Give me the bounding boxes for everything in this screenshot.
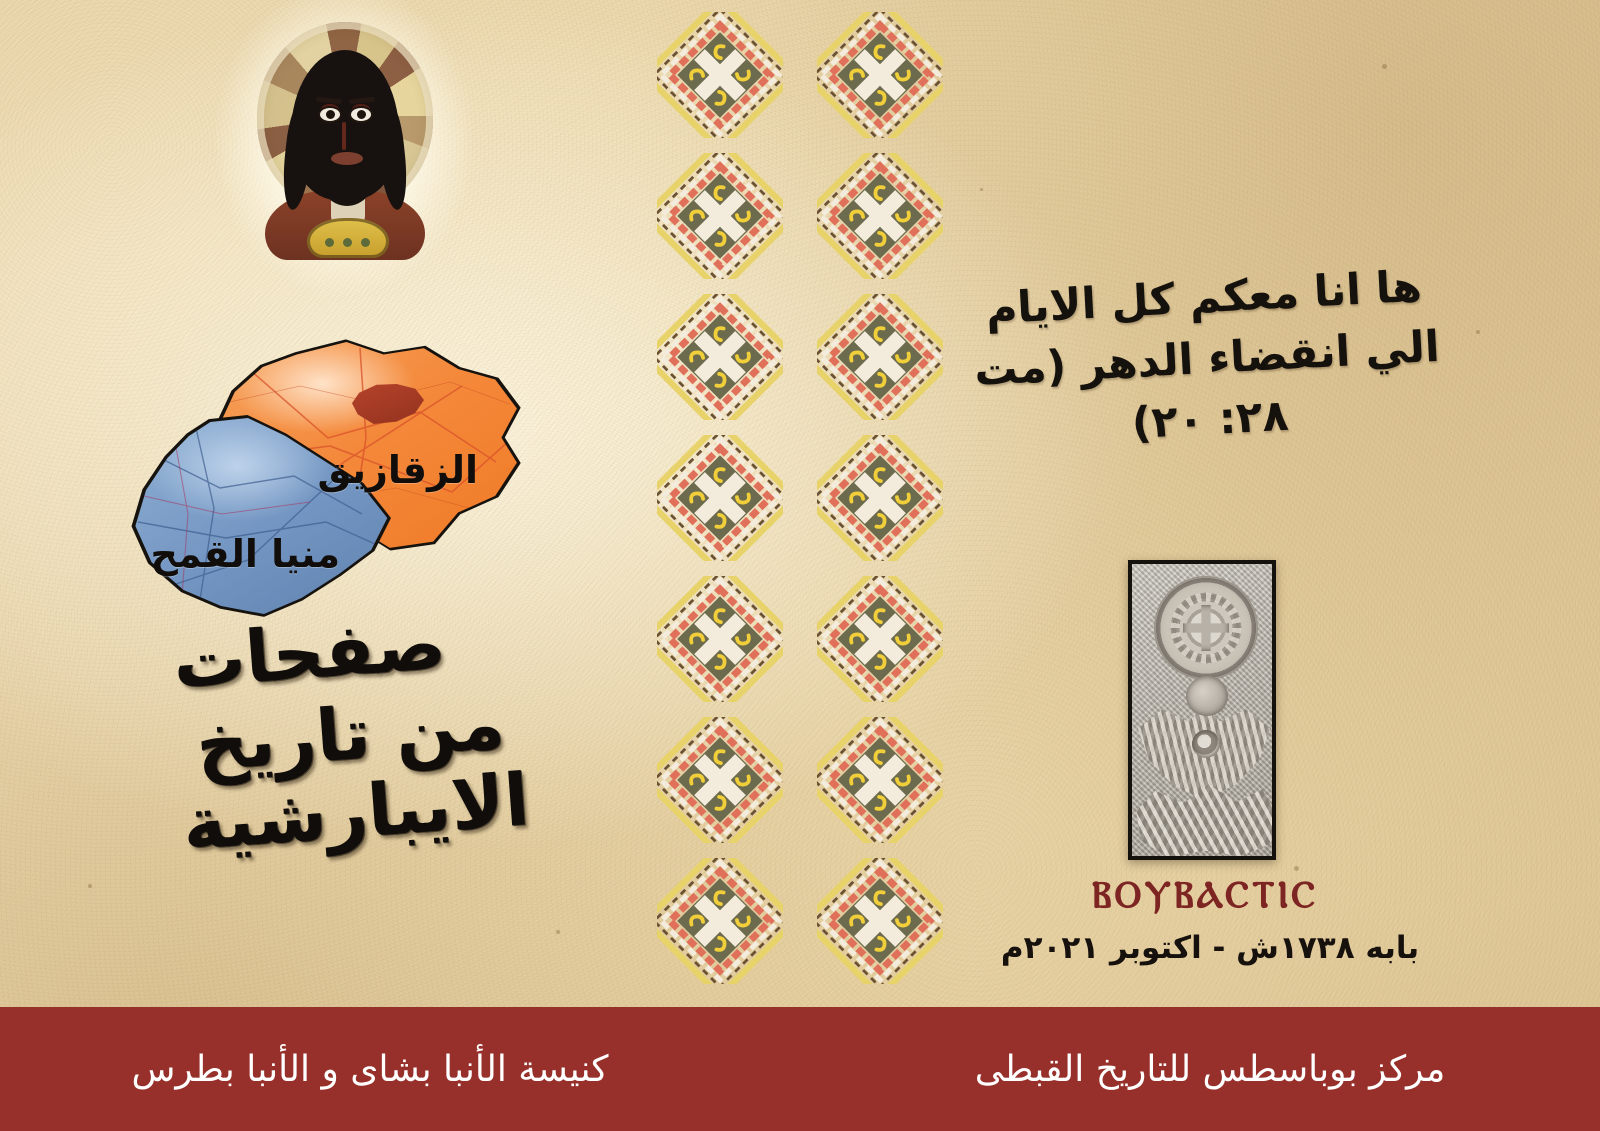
- collar-dot: [343, 238, 352, 247]
- coptic-textile-cross-motif: [657, 435, 783, 561]
- eagle-head: [1186, 676, 1228, 716]
- coptic-textile-cross-motif: [817, 858, 943, 984]
- coptic-textile-cross-motif: [657, 294, 783, 420]
- bottom-banner: مركز بوباسطس للتاريخ القبطى كنيسة الأنبا…: [0, 1007, 1600, 1131]
- collar-dot: [325, 238, 334, 247]
- coptic-textile-cross-motif: [657, 12, 783, 138]
- bible-verse: ها انا معكم كل الايام الي انقضاء الدهر (…: [968, 256, 1447, 463]
- coptic-textile-cross-motif: [657, 576, 783, 702]
- map-label-minya-alqamh: منيا القمح: [150, 532, 340, 576]
- cross-ornament: [817, 294, 943, 420]
- paper-speck: [556, 930, 560, 934]
- coptic-textile-cross-motif: [657, 717, 783, 843]
- title-line-2: من تاريخ الايبارشية: [68, 675, 638, 871]
- cross-ornament: [657, 435, 783, 561]
- coptic-wordmark: ⲂⲞⲨⲂⲀⲤⲦⲒⲤ: [1040, 872, 1370, 917]
- coptic-textile-cross-motif: [817, 435, 943, 561]
- issue-date: بابه ١٧٣٨ش - اكتوبر ٢٠٢١م: [1000, 930, 1420, 966]
- coptic-textile-cross-motif: [817, 576, 943, 702]
- paper-speck: [1476, 330, 1480, 334]
- cross-ornament: [817, 12, 943, 138]
- cross-ornament: [817, 576, 943, 702]
- coptic-textile-cross-motif: [817, 294, 943, 420]
- poster-canvas: الزقازيق منيا القمح صفحات من تاريخ الايب…: [0, 0, 1600, 1131]
- coptic-textile-cross-motif: [817, 153, 943, 279]
- eye-right: [351, 108, 371, 121]
- paper-speck: [1294, 866, 1299, 871]
- map-label-zagazig: الزقازيق: [318, 448, 478, 492]
- cross-ornament: [657, 12, 783, 138]
- cross-ornament-grid: [640, 4, 960, 994]
- paper-speck: [88, 884, 92, 888]
- paper-speck: [1382, 64, 1387, 69]
- page-title: صفحات من تاريخ الايبارشية: [62, 592, 638, 872]
- christ-icon: [233, 14, 455, 276]
- cross-ornament: [657, 294, 783, 420]
- coptic-textile-cross-motif: [817, 12, 943, 138]
- christ-icon-artwork: [251, 22, 439, 258]
- eye-left: [320, 108, 340, 121]
- stone-relief-image: [1128, 560, 1276, 860]
- districts-map: الزقازيق منيا القمح: [130, 332, 530, 628]
- cross-ornament: [657, 153, 783, 279]
- cross-ornament: [657, 858, 783, 984]
- cross-ornament: [817, 717, 943, 843]
- mouth: [331, 152, 363, 165]
- cross-ornament: [817, 153, 943, 279]
- central-boss: [1192, 730, 1220, 758]
- cross-ornament: [657, 717, 783, 843]
- cross-ornament: [657, 576, 783, 702]
- coptic-textile-cross-motif: [657, 153, 783, 279]
- coptic-textile-cross-motif: [657, 858, 783, 984]
- collar-dot: [361, 238, 370, 247]
- banner-center-name: مركز بوباسطس للتاريخ القبطى: [800, 1049, 1600, 1090]
- banner-church-name: كنيسة الأنبا بشاى و الأنبا بطرس: [0, 1049, 800, 1090]
- coptic-textile-cross-motif: [817, 717, 943, 843]
- paper-speck: [980, 188, 983, 191]
- rosette-bead-ring: [1154, 576, 1258, 680]
- cross-ornament: [817, 858, 943, 984]
- cross-ornament: [817, 435, 943, 561]
- nose: [342, 122, 346, 150]
